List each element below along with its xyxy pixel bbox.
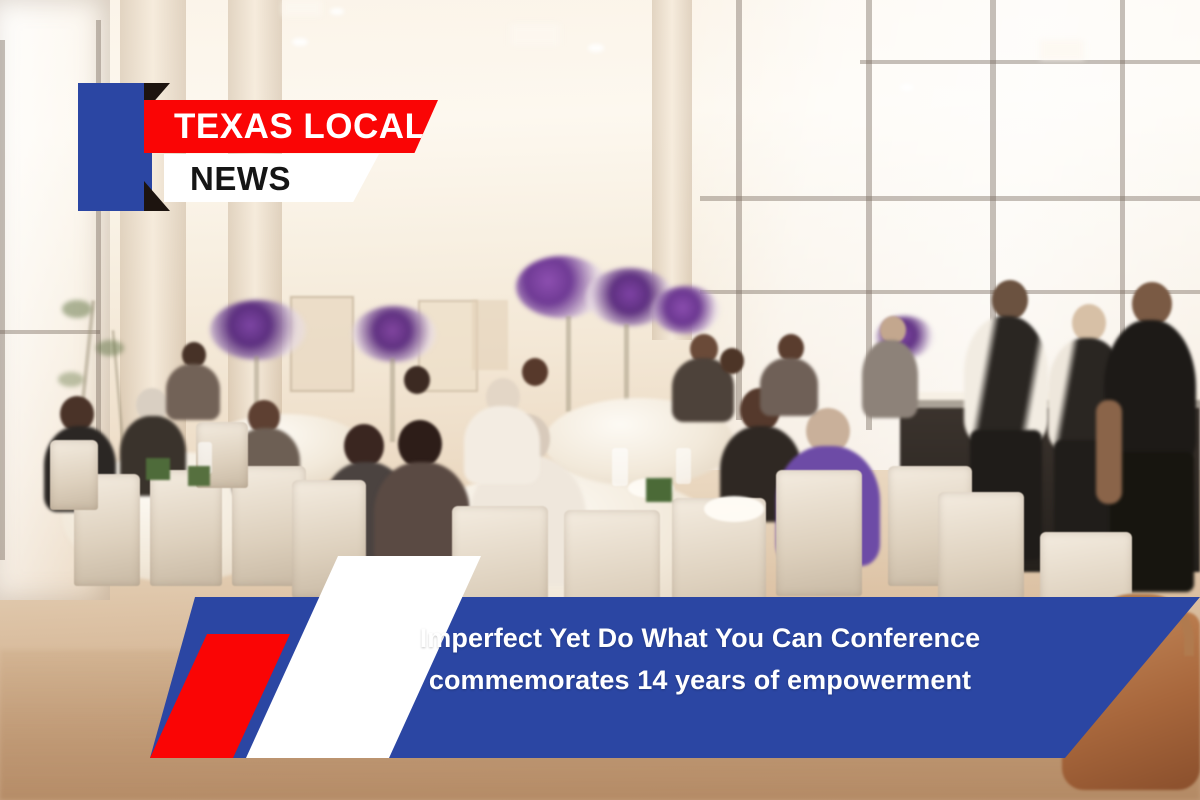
window-mullion: [700, 196, 1200, 201]
guest-head: [720, 348, 744, 374]
headline-banner: Imperfect Yet Do What You Can Conference…: [150, 556, 1200, 800]
centerpiece-stand: [390, 358, 395, 442]
ceiling-light: [292, 38, 308, 46]
headline-line-2: commemorates 14 years of empowerment: [340, 660, 1060, 702]
headline-text: Imperfect Yet Do What You Can Conference…: [340, 618, 1060, 702]
staff-head: [1072, 304, 1106, 342]
staff-arm: [1096, 400, 1122, 504]
favor-box: [646, 478, 672, 502]
ceiling-light: [588, 44, 604, 52]
thumbnail-card: TEXAS LOCAL NEWS Imperfect Yet Do What Y…: [0, 0, 1200, 800]
logo-white-banner: NEWS: [164, 154, 379, 202]
logo-blue-block: [78, 83, 152, 211]
drinking-glass: [612, 448, 628, 486]
guest-body: [464, 406, 540, 484]
guest-body: [862, 340, 918, 418]
rear-door: [472, 300, 508, 370]
logo-red-banner: TEXAS LOCAL: [144, 100, 438, 153]
staff-body-vest: [964, 316, 1048, 442]
banquet-chair: [50, 440, 98, 510]
ceiling-panel: [1040, 40, 1084, 60]
drinking-glass: [676, 448, 691, 484]
guest-head: [404, 366, 430, 394]
centerpiece-stand: [566, 316, 571, 412]
ceiling-panel: [282, 0, 322, 16]
guest-head: [398, 420, 442, 468]
ceiling-light: [330, 8, 344, 15]
staff-head: [992, 280, 1028, 320]
favor-box: [146, 458, 170, 480]
guest-body: [760, 358, 818, 416]
ceiling-panel: [510, 24, 560, 46]
floral-centerpiece: [652, 286, 720, 334]
window-frame-left: [0, 40, 5, 560]
decorative-plant-leaf: [58, 372, 84, 387]
logo-primary-label: TEXAS LOCAL: [174, 109, 426, 144]
texas-local-news-logo[interactable]: TEXAS LOCAL NEWS: [78, 78, 438, 213]
ceiling-light: [900, 84, 914, 91]
window-frame-left: [0, 330, 100, 334]
place-setting: [704, 496, 764, 522]
favor-box: [188, 466, 210, 486]
logo-secondary-label: NEWS: [190, 162, 291, 195]
window-mullion: [860, 60, 1200, 64]
window-mullion: [700, 290, 1200, 294]
guest-body: [166, 364, 220, 420]
headline-line-1: Imperfect Yet Do What You Can Conference: [340, 618, 1060, 660]
decorative-plant-leaf: [62, 300, 92, 318]
decorative-plant-leaf: [96, 340, 124, 356]
floral-centerpiece: [352, 306, 436, 362]
guest-head: [522, 358, 548, 386]
floral-centerpiece: [210, 300, 306, 360]
